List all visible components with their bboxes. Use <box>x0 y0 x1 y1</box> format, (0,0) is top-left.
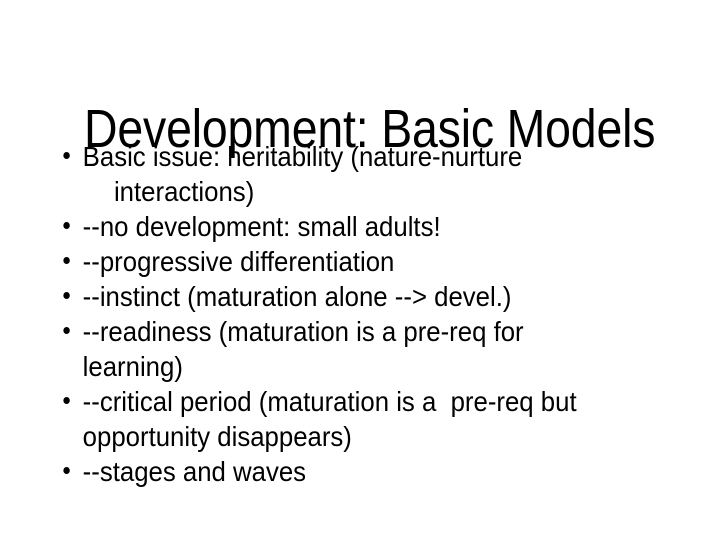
list-item: --progressive differentiation <box>56 244 619 279</box>
list-item: --readiness (maturation is a pre-req for… <box>56 314 619 384</box>
bullet-dot-icon <box>63 222 69 229</box>
list-item-line: --stages and waves <box>83 454 619 489</box>
list-item-line: --progressive differentiation <box>83 244 619 279</box>
bullet-list: Basic issue: heritability (nature-nurtur… <box>56 139 668 489</box>
list-item-line-wrap: interactions) <box>83 174 619 209</box>
list-item-line-wrap: learning) <box>83 349 619 384</box>
list-item: --no development: small adults! <box>56 209 619 244</box>
bullet-dot-icon <box>63 292 69 299</box>
list-item: --instinct (maturation alone --> devel.) <box>56 279 619 314</box>
bullet-dot-icon <box>63 467 69 474</box>
bullet-dot-icon <box>63 327 69 334</box>
list-item: Basic issue: heritability (nature-nurtur… <box>56 139 619 209</box>
list-item: --stages and waves <box>56 454 619 489</box>
list-item-line: --instinct (maturation alone --> devel.) <box>83 279 619 314</box>
bullet-dot-icon <box>63 257 69 264</box>
list-item-line: Basic issue: heritability (nature-nurtur… <box>83 139 619 174</box>
bullet-dot-icon <box>63 397 69 404</box>
list-item-line: --readiness (maturation is a pre-req for <box>83 314 619 349</box>
presentation-slide: Development: Basic Models Basic issue: h… <box>0 0 720 540</box>
list-item-line-wrap: opportunity disappears) <box>83 419 619 454</box>
list-item: --critical period (maturation is a pre-r… <box>56 384 619 454</box>
list-item-line: --no development: small adults! <box>83 209 619 244</box>
bullet-dot-icon <box>63 152 69 159</box>
list-item-line: --critical period (maturation is a pre-r… <box>83 384 619 419</box>
